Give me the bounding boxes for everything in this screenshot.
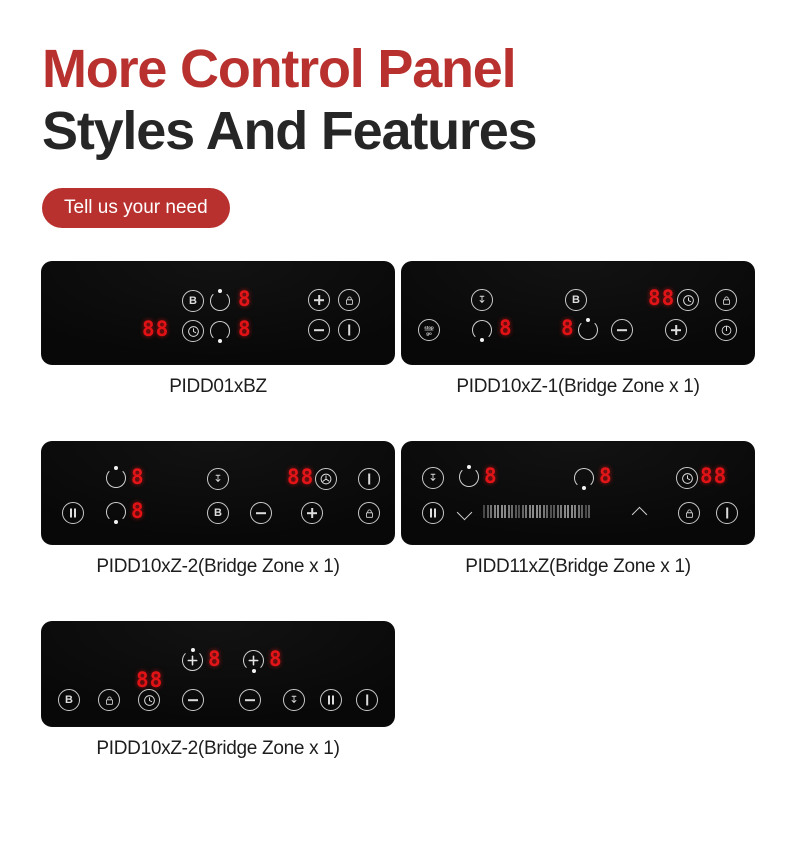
bridge-zone-button[interactable]: B — [58, 689, 80, 711]
lock-icon-svg — [104, 695, 115, 706]
clock-icon — [676, 467, 698, 489]
slider-tick — [553, 505, 555, 518]
slider-tick — [560, 505, 562, 518]
timer-button[interactable] — [676, 467, 698, 489]
seven-segment-digit: 8 — [238, 319, 252, 340]
slider-tick — [508, 505, 510, 518]
zone-plus-button-1[interactable] — [182, 650, 203, 671]
minus-button[interactable] — [250, 502, 272, 524]
control-panel-pidd10xz-1[interactable]: stop go 8 B 8 88 — [402, 262, 754, 364]
timer-display: 88 — [142, 319, 169, 340]
lock-button[interactable] — [678, 502, 700, 524]
cooking-zone-top-icon — [578, 320, 598, 340]
lock-icon — [98, 689, 120, 711]
plus-button[interactable] — [308, 289, 330, 311]
keep-warm-button[interactable]: stop go — [418, 319, 440, 341]
minus-button[interactable] — [611, 319, 633, 341]
seven-segment-digit: 8 — [484, 466, 498, 487]
power-icon — [338, 319, 360, 341]
clock-rays-icon-svg — [319, 472, 333, 486]
power-level-display-1: 8 — [238, 289, 252, 310]
page-title-line1: More Control Panel — [42, 38, 742, 100]
pause-icon — [422, 502, 444, 524]
slider-tick — [494, 505, 496, 518]
pause-button[interactable] — [62, 502, 84, 524]
svg-text:go: go — [426, 331, 432, 336]
slider-tick — [546, 505, 548, 518]
slider-tick — [543, 505, 545, 518]
zone-indicator-bottom — [106, 502, 126, 522]
timer-display: 88 — [700, 466, 727, 487]
power-button[interactable] — [715, 319, 737, 341]
clock-icon — [677, 289, 699, 311]
bridge-zone-button[interactable]: B — [207, 502, 229, 524]
slider-tick — [490, 505, 492, 518]
slider-tick — [571, 505, 573, 518]
panel-card-3: 8 88 — [42, 442, 394, 578]
boost-icon-svg — [212, 473, 224, 485]
bridge-b-icon: B — [565, 289, 587, 311]
seven-segment-digit: 8 — [561, 318, 575, 339]
stop-go-icon: stop go — [418, 319, 440, 341]
timer-display: 88 — [136, 670, 163, 691]
boost-button[interactable] — [283, 689, 305, 711]
slider-tick — [529, 505, 531, 518]
slider-tick — [525, 505, 527, 518]
boost-icon — [422, 467, 444, 489]
plus-icon — [301, 502, 323, 524]
plus-glyph-svg — [182, 650, 203, 671]
zone-indicator-top — [210, 291, 230, 311]
power-level-display-1: 8 — [499, 318, 513, 339]
clock-icon-svg — [143, 694, 156, 707]
pause-icon — [62, 502, 84, 524]
lock-icon-svg — [721, 295, 732, 306]
power-icon — [358, 468, 380, 490]
timer-display: 88 — [287, 467, 314, 488]
svg-text:stop: stop — [424, 325, 434, 330]
panel-caption: PIDD10xZ-2(Bridge Zone x 1) — [42, 556, 394, 578]
power-level-display-1: 8 — [484, 466, 498, 487]
seven-segment-digit: 8 — [208, 649, 222, 670]
timer-button[interactable] — [182, 320, 204, 342]
seven-segment-digit: 88 — [136, 670, 163, 691]
seven-segment-digit: 8 — [269, 649, 283, 670]
plus-zone-bottom-icon — [243, 650, 264, 671]
timer-button[interactable] — [677, 289, 699, 311]
lock-button[interactable] — [358, 502, 380, 524]
lock-button[interactable] — [98, 689, 120, 711]
minus-icon — [611, 319, 633, 341]
timer-button[interactable] — [315, 468, 337, 490]
cooking-zone-bottom-icon — [106, 502, 126, 522]
slider-decrease-chevron[interactable] — [457, 504, 473, 520]
slider-tick — [501, 505, 503, 518]
bridge-zone-button[interactable]: B — [565, 289, 587, 311]
lock-icon-svg — [344, 295, 355, 306]
boost-button[interactable] — [207, 468, 229, 490]
zone-indicator-bottom — [472, 320, 492, 340]
slider-tick — [497, 505, 499, 518]
power-level-display-2: 8 — [599, 466, 613, 487]
power-level-display-2: 8 — [561, 318, 575, 339]
slider-tick — [585, 505, 587, 518]
slider-tick — [515, 505, 517, 518]
zone-indicator-top — [578, 320, 598, 340]
seven-segment-digit: 88 — [287, 467, 314, 488]
power-button[interactable] — [358, 468, 380, 490]
cooking-zone-top-icon — [106, 468, 126, 488]
slider-increase-chevron[interactable] — [632, 504, 648, 520]
power-level-display-1: 8 — [208, 649, 222, 670]
zone-indicator-top — [459, 467, 479, 487]
minus-icon — [182, 689, 204, 711]
minus-icon — [250, 502, 272, 524]
lock-icon-svg — [364, 508, 375, 519]
cooking-zone-bottom-icon — [210, 321, 230, 341]
cooking-zone-bottom-icon — [574, 468, 594, 488]
clock-icon-svg — [681, 472, 694, 485]
lock-icon — [358, 502, 380, 524]
clock-icon — [182, 320, 204, 342]
cooking-zone-bottom-icon — [472, 320, 492, 340]
minus-icon — [239, 689, 261, 711]
slider-tick — [483, 505, 485, 518]
minus-button-1[interactable] — [182, 689, 204, 711]
tell-us-your-need-button[interactable]: Tell us your need — [42, 188, 230, 228]
bridge-zone-button[interactable]: B — [182, 290, 204, 312]
clock-icon-svg — [187, 325, 200, 338]
boost-button[interactable] — [471, 289, 493, 311]
boost-icon — [283, 689, 305, 711]
power-level-display-2: 8 — [269, 649, 283, 670]
slider-tick — [588, 505, 590, 518]
boost-button[interactable] — [422, 467, 444, 489]
slider-tick — [536, 505, 538, 518]
zone-indicator-top — [106, 468, 126, 488]
timer-button[interactable] — [138, 689, 160, 711]
control-panel-pidd10xz-2[interactable]: 8 88 — [42, 442, 394, 544]
power-icon — [716, 502, 738, 524]
minus-icon — [308, 319, 330, 341]
power-level-slider[interactable] — [483, 504, 590, 518]
panel-card-2: stop go 8 B 8 88 — [402, 262, 754, 398]
power-level-display-1: 8 — [131, 467, 145, 488]
clock-icon-svg — [682, 294, 695, 307]
zone-indicator-bottom — [210, 321, 230, 341]
lock-icon — [338, 289, 360, 311]
panel-caption: PIDD10xZ-2(Bridge Zone x 1) — [42, 738, 394, 760]
seven-segment-digit: 8 — [499, 318, 513, 339]
plus-icon — [665, 319, 687, 341]
power-button[interactable] — [338, 319, 360, 341]
lock-button[interactable] — [338, 289, 360, 311]
power-level-display-2: 8 — [131, 501, 145, 522]
boost-icon-svg — [476, 294, 488, 306]
slider-tick — [578, 505, 580, 518]
cooking-zone-top-icon — [459, 467, 479, 487]
slider-tick — [567, 505, 569, 518]
slider-tick — [564, 505, 566, 518]
slider-tick — [539, 505, 541, 518]
seven-segment-digit: 8 — [131, 501, 145, 522]
boost-icon — [471, 289, 493, 311]
lock-button[interactable] — [715, 289, 737, 311]
seven-segment-digit: 8 — [599, 466, 613, 487]
control-panel-pidd11xz[interactable]: 8 8 88 — [402, 442, 754, 544]
plus-button[interactable] — [301, 502, 323, 524]
boost-icon — [207, 468, 229, 490]
slider-tick — [518, 505, 520, 518]
power-button[interactable] — [356, 689, 378, 711]
stop-go-icon-svg: stop go — [421, 322, 437, 338]
page-title-line2: Styles And Features — [42, 100, 742, 162]
boost-icon-svg — [288, 694, 300, 706]
panel-card-5: 8 8 88 B — [42, 622, 394, 760]
plus-button[interactable] — [665, 319, 687, 341]
power-button[interactable] — [716, 502, 738, 524]
lock-icon — [678, 502, 700, 524]
plus-zone-top-icon — [182, 650, 203, 671]
power-icon — [715, 319, 737, 341]
control-panel-pidd10xz-2b[interactable]: 8 8 88 B — [42, 622, 394, 726]
seven-segment-digit: 88 — [142, 319, 169, 340]
clock-rays-icon — [315, 468, 337, 490]
pause-icon — [320, 689, 342, 711]
clock-icon — [138, 689, 160, 711]
slider-tick — [574, 505, 576, 518]
power-level-display-2: 8 — [238, 319, 252, 340]
plus-glyph-svg — [243, 650, 264, 671]
lock-icon-svg — [684, 508, 695, 519]
chevron-down-icon — [457, 504, 473, 520]
bridge-b-icon: B — [182, 290, 204, 312]
slider-tick — [581, 505, 583, 518]
lock-icon — [715, 289, 737, 311]
timer-display: 88 — [648, 288, 675, 309]
slider-tick — [487, 505, 489, 518]
slider-tick — [511, 505, 513, 518]
boost-icon-svg — [427, 472, 439, 484]
seven-segment-digit: 88 — [700, 466, 727, 487]
bridge-b-icon: B — [207, 502, 229, 524]
page-header: More Control Panel Styles And Features — [42, 38, 742, 162]
zone-indicator-bottom — [574, 468, 594, 488]
pause-button[interactable] — [320, 689, 342, 711]
slider-tick — [532, 505, 534, 518]
power-icon-svg — [720, 324, 733, 337]
cooking-zone-top-icon — [210, 291, 230, 311]
power-icon — [356, 689, 378, 711]
zone-plus-button-2[interactable] — [243, 650, 264, 671]
slider-tick — [504, 505, 506, 518]
slider-tick — [522, 505, 524, 518]
slider-tick — [550, 505, 552, 518]
panel-card-1: B 8 88 8 — [42, 262, 394, 398]
slider-bars[interactable] — [483, 504, 590, 518]
control-panel-pidd01xbz[interactable]: B 8 88 8 — [42, 262, 394, 364]
pause-button[interactable] — [422, 502, 444, 524]
panel-caption: PIDD01xBZ — [42, 376, 394, 398]
page-root: More Control Panel Styles And Features T… — [0, 0, 790, 865]
minus-button[interactable] — [308, 319, 330, 341]
seven-segment-digit: 8 — [131, 467, 145, 488]
seven-segment-digit: 8 — [238, 289, 252, 310]
seven-segment-digit: 88 — [648, 288, 675, 309]
bridge-b-icon: B — [58, 689, 80, 711]
panel-card-4: 8 8 88 — [402, 442, 754, 578]
chevron-up-icon — [632, 504, 648, 520]
slider-tick — [557, 505, 559, 518]
panel-caption: PIDD11xZ(Bridge Zone x 1) — [402, 556, 754, 578]
panel-caption: PIDD10xZ-1(Bridge Zone x 1) — [402, 376, 754, 398]
minus-button-2[interactable] — [239, 689, 261, 711]
plus-icon — [308, 289, 330, 311]
